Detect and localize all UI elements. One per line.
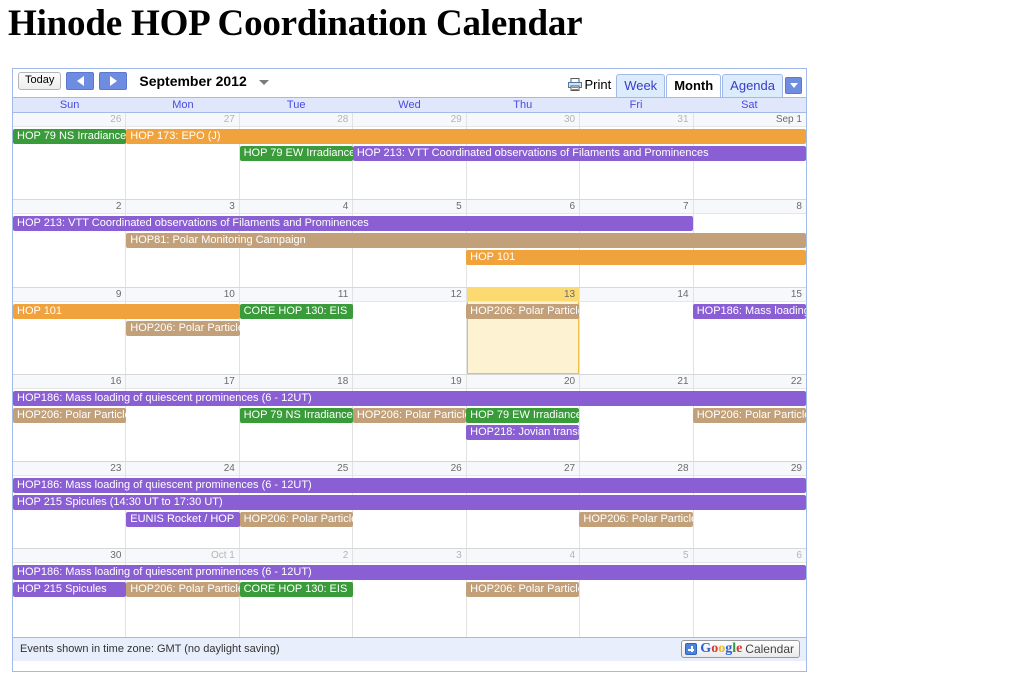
day-name-sat: Sat xyxy=(693,98,806,112)
day-number[interactable]: 27 xyxy=(126,113,238,127)
view-options-button[interactable] xyxy=(785,77,802,94)
day-number[interactable]: 12 xyxy=(353,288,465,302)
chevron-down-icon xyxy=(790,83,798,88)
day-cell[interactable]: 9 xyxy=(13,288,126,374)
day-number[interactable]: 29 xyxy=(694,462,806,476)
day-cell[interactable]: 15 xyxy=(694,288,806,374)
day-cell[interactable]: 14 xyxy=(580,288,693,374)
week-row: 2345678HOP 213: VTT Coordinated observat… xyxy=(13,200,806,287)
calendar-event[interactable]: HOP186: Mass loading of quiescent promin… xyxy=(13,565,806,580)
calendar-event[interactable]: HOP 79 EW Irradiance xyxy=(466,408,579,423)
day-cell[interactable]: 21 xyxy=(580,375,693,461)
calendar-event[interactable]: CORE HOP 130: EIS xyxy=(240,304,353,319)
google-calendar-badge[interactable]: Google Calendar xyxy=(681,640,800,658)
calendar-event[interactable]: HOP206: Polar Particles xyxy=(126,582,239,597)
calendar-event[interactable]: HOP186: Mass loading of quiescent promin… xyxy=(13,391,806,406)
day-number[interactable]: 21 xyxy=(580,375,692,389)
day-name-wed: Wed xyxy=(353,98,466,112)
day-cell[interactable]: 6 xyxy=(694,549,806,636)
day-number[interactable]: 31 xyxy=(580,113,692,127)
calendar-event[interactable]: HOP 101 xyxy=(13,304,240,319)
day-number[interactable]: 28 xyxy=(580,462,692,476)
tab-month[interactable]: Month xyxy=(666,74,721,97)
day-name-sun: Sun xyxy=(13,98,126,112)
day-number[interactable]: 11 xyxy=(240,288,352,302)
timezone-note: Events shown in time zone: GMT (no dayli… xyxy=(20,643,280,655)
day-number[interactable]: 25 xyxy=(240,462,352,476)
week-row: 30Oct 123456HOP186: Mass loading of quie… xyxy=(13,549,806,636)
day-cell[interactable]: 5 xyxy=(580,549,693,636)
day-name-fri: Fri xyxy=(579,98,692,112)
day-number[interactable]: 20 xyxy=(467,375,579,389)
calendar-event[interactable]: HOP 215 Spicules (14:30 UT to 17:30 UT) xyxy=(13,495,806,510)
calendar-event[interactable]: HOP 215 Spicules xyxy=(13,582,126,597)
day-number[interactable]: 5 xyxy=(353,200,465,214)
calendar-event[interactable]: HOP 79 NS Irradiance xyxy=(13,129,126,144)
printer-icon xyxy=(568,78,582,91)
day-number[interactable]: 27 xyxy=(467,462,579,476)
day-number[interactable]: 29 xyxy=(353,113,465,127)
month-grid: 262728293031Sep 1HOP 79 NS IrradianceHOP… xyxy=(13,113,806,637)
day-number[interactable]: 6 xyxy=(694,549,806,563)
day-number[interactable]: 7 xyxy=(580,200,692,214)
print-label: Print xyxy=(584,77,611,92)
plus-icon xyxy=(685,643,697,655)
day-name-tue: Tue xyxy=(240,98,353,112)
calendar-event[interactable]: HOP 213: VTT Coordinated observations of… xyxy=(13,216,693,231)
day-number[interactable]: 19 xyxy=(353,375,465,389)
calendar-event[interactable]: HOP 101 xyxy=(466,250,806,265)
calendar-event[interactable]: HOP 173: EPO (J) xyxy=(126,129,806,144)
day-number[interactable]: 8 xyxy=(694,200,806,214)
page-title: Hinode HOP Coordination Calendar xyxy=(8,2,582,45)
week-row: 9101112131415HOP 101CORE HOP 130: EISHOP… xyxy=(13,288,806,375)
calendar-event[interactable]: HOP218: Jovian transit xyxy=(466,425,579,440)
tab-agenda[interactable]: Agenda xyxy=(722,74,783,97)
day-number[interactable]: 3 xyxy=(353,549,465,563)
day-name-mon: Mon xyxy=(126,98,239,112)
day-number[interactable]: 15 xyxy=(694,288,806,302)
calendar-page: Hinode HOP Coordination Calendar Today S… xyxy=(0,0,1024,674)
day-cell[interactable]: 17 xyxy=(126,375,239,461)
day-of-week-header: SunMonTueWedThuFriSat xyxy=(13,97,806,113)
calendar-event[interactable]: EUNIS Rocket / HOP xyxy=(126,512,239,527)
day-number[interactable]: 14 xyxy=(580,288,692,302)
day-number[interactable]: 4 xyxy=(240,200,352,214)
tab-week[interactable]: Week xyxy=(616,74,665,97)
day-number[interactable]: 30 xyxy=(13,549,125,563)
next-period-button[interactable] xyxy=(99,72,127,90)
chevron-right-icon xyxy=(110,76,117,86)
today-button[interactable]: Today xyxy=(18,72,61,90)
day-number[interactable]: 2 xyxy=(240,549,352,563)
day-cell[interactable]: 26 xyxy=(13,113,126,199)
day-cell[interactable]: 12 xyxy=(353,288,466,374)
day-number[interactable]: 10 xyxy=(126,288,238,302)
chevron-left-icon xyxy=(77,76,84,86)
day-cell[interactable]: 13 xyxy=(467,288,580,374)
day-number[interactable]: Oct 1 xyxy=(126,549,238,563)
chevron-down-icon[interactable] xyxy=(259,80,269,85)
calendar-event[interactable]: HOP206: Polar Particles xyxy=(13,408,126,423)
day-number[interactable]: 22 xyxy=(694,375,806,389)
day-number[interactable]: 16 xyxy=(13,375,125,389)
calendar-event[interactable]: HOP206: Polar Particles xyxy=(466,304,579,319)
google-calendar-embed: Today September 2012 xyxy=(12,68,807,672)
day-number[interactable]: 24 xyxy=(126,462,238,476)
day-number[interactable]: Sep 1 xyxy=(694,113,806,127)
day-cell[interactable]: 27 xyxy=(126,113,239,199)
calendar-event[interactable]: HOP 213: VTT Coordinated observations of… xyxy=(353,146,806,161)
previous-period-button[interactable] xyxy=(66,72,94,90)
calendar-event[interactable]: HOP 79 EW Irradiance xyxy=(240,146,353,161)
calendar-toolbar: Today September 2012 xyxy=(13,69,806,97)
google-logo: Google xyxy=(700,642,742,656)
calendar-event[interactable]: HOP206: Polar Particles xyxy=(126,321,239,336)
day-cell[interactable]: 2 xyxy=(13,200,126,286)
calendar-event[interactable]: HOP186: Mass loading of quiescent promin… xyxy=(13,478,806,493)
day-number[interactable]: 26 xyxy=(13,113,125,127)
calendar-footer: Events shown in time zone: GMT (no dayli… xyxy=(13,637,806,661)
calendar-event[interactable]: HOP206: Polar Particles xyxy=(353,408,466,423)
calendar-event[interactable]: HOP 79 NS Irradiance xyxy=(240,408,353,423)
calendar-event[interactable]: HOP206: Polar Particles xyxy=(693,408,806,423)
week-row: 262728293031Sep 1HOP 79 NS IrradianceHOP… xyxy=(13,113,806,200)
calendar-event[interactable]: HOP186: Mass loading of quiescent promin… xyxy=(693,304,806,319)
day-number[interactable]: 28 xyxy=(240,113,352,127)
day-number[interactable]: 4 xyxy=(467,549,579,563)
day-number[interactable]: 6 xyxy=(467,200,579,214)
day-number[interactable]: 30 xyxy=(467,113,579,127)
day-number[interactable]: 5 xyxy=(580,549,692,563)
toolbar-right-group: Print Week Month Agenda xyxy=(565,69,802,97)
day-number[interactable]: 3 xyxy=(126,200,238,214)
day-number[interactable]: 17 xyxy=(126,375,238,389)
day-number[interactable]: 18 xyxy=(240,375,352,389)
print-button[interactable]: Print xyxy=(565,74,616,97)
day-cell[interactable]: 11 xyxy=(240,288,353,374)
calendar-event[interactable]: HOP206: Polar Particles xyxy=(579,512,692,527)
calendar-event[interactable]: HOP81: Polar Monitoring Campaign xyxy=(126,233,806,248)
current-range-label: September 2012 xyxy=(139,73,246,89)
week-row: 16171819202122HOP186: Mass loading of qu… xyxy=(13,375,806,462)
badge-product-label: Calendar xyxy=(745,642,794,656)
day-number[interactable]: 13 xyxy=(467,288,579,302)
day-number[interactable]: 23 xyxy=(13,462,125,476)
day-name-thu: Thu xyxy=(466,98,579,112)
calendar-event[interactable]: HOP206: Polar Particles xyxy=(466,582,579,597)
day-cell[interactable]: 3 xyxy=(353,549,466,636)
calendar-event[interactable]: CORE HOP 130: EIS xyxy=(240,582,353,597)
calendar-event[interactable]: HOP206: Polar Particles xyxy=(240,512,353,527)
week-row: 23242526272829HOP186: Mass loading of qu… xyxy=(13,462,806,549)
toolbar-left-group: Today September 2012 xyxy=(18,72,269,90)
day-number[interactable]: 26 xyxy=(353,462,465,476)
day-number[interactable]: 2 xyxy=(13,200,125,214)
day-number[interactable]: 9 xyxy=(13,288,125,302)
